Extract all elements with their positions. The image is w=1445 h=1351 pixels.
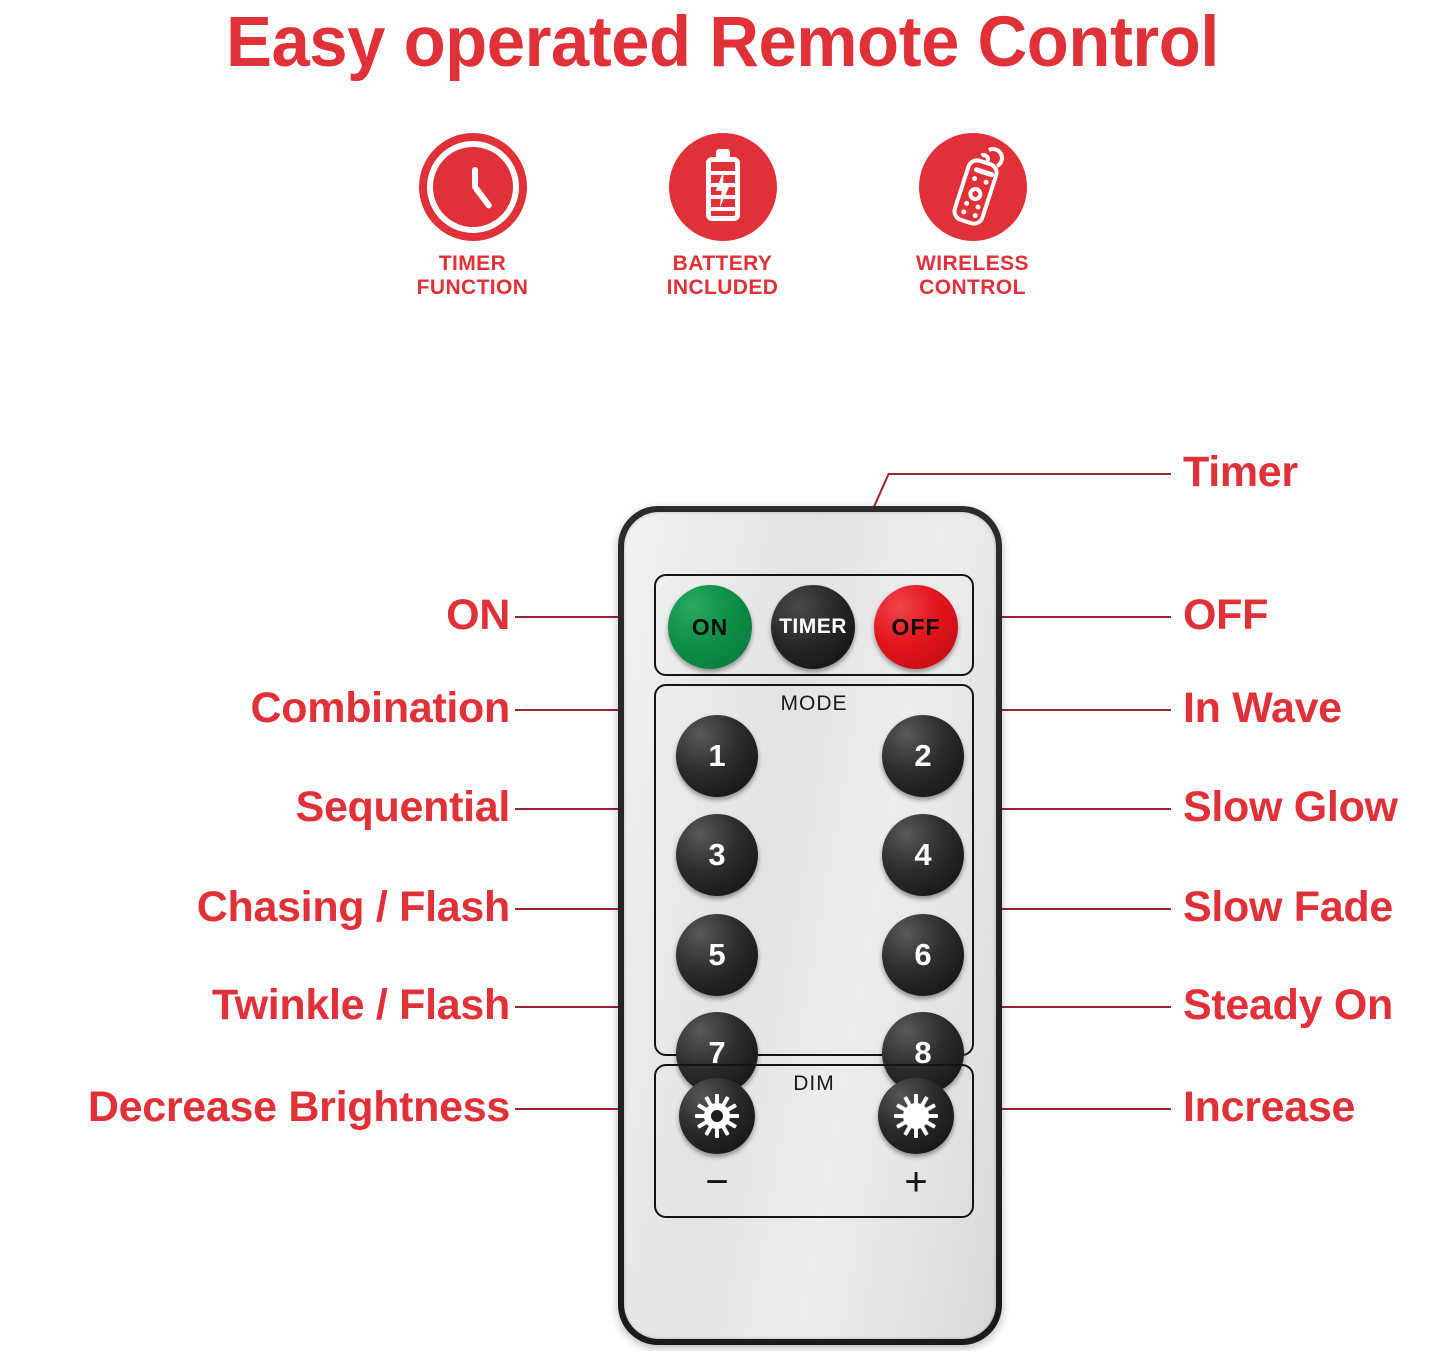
clock-icon: [419, 133, 527, 241]
badge-caption-line1: BATTERY: [667, 252, 779, 276]
callout-sequential: Sequential: [15, 786, 510, 829]
callout-chasing-flash: Chasing / Flash: [15, 886, 510, 929]
callout-off: OFF: [1183, 594, 1268, 637]
sun-solid-icon: [894, 1094, 938, 1138]
timer-button[interactable]: TIMER: [771, 585, 855, 669]
badge-caption-line1: TIMER: [417, 252, 529, 276]
badge-caption: TIMER FUNCTION: [417, 252, 529, 301]
badge-caption-line2: INCLUDED: [667, 276, 779, 300]
badge-battery-included: BATTERY INCLUDED: [598, 133, 848, 301]
callout-steady-on: Steady On: [1183, 984, 1393, 1027]
dim-minus-sign: −: [687, 1162, 747, 1202]
callout-slow-fade: Slow Fade: [1183, 886, 1393, 929]
badge-caption-line2: CONTROL: [916, 276, 1029, 300]
callout-twinkle-flash: Twinkle / Flash: [15, 984, 510, 1027]
page-title: Easy operated Remote Control: [22, 2, 1424, 83]
mode-button-3[interactable]: 3: [676, 814, 758, 896]
mode-panel: MODE 1 2 3 4 5 6 7 8: [654, 684, 974, 1056]
power-panel: ON TIMER OFF: [654, 574, 974, 676]
remote-control: ON TIMER OFF MODE 1 2 3 4 5 6 7 8 DIM: [618, 506, 1002, 1345]
battery-icon: [669, 133, 777, 241]
badge-timer-function: TIMER FUNCTION: [348, 133, 598, 301]
mode-button-5[interactable]: 5: [676, 914, 758, 996]
callout-in-wave: In Wave: [1183, 687, 1342, 730]
callout-increase: Increase: [1183, 1086, 1355, 1129]
badge-caption-line1: WIRELESS: [916, 252, 1029, 276]
remote-face: ON TIMER OFF MODE 1 2 3 4 5 6 7 8 DIM: [624, 512, 996, 1339]
badge-caption: WIRELESS CONTROL: [916, 252, 1029, 301]
mode-button-2[interactable]: 2: [882, 715, 964, 797]
badge-wireless-control: WIRELESS CONTROL: [848, 133, 1098, 301]
mode-button-1[interactable]: 1: [676, 715, 758, 797]
badge-caption-line2: FUNCTION: [417, 276, 529, 300]
leader-line-timer: [888, 473, 1171, 475]
callout-timer: Timer: [1183, 451, 1298, 494]
off-button[interactable]: OFF: [874, 585, 958, 669]
callout-combination: Combination: [15, 687, 510, 730]
dim-decrease-button[interactable]: [679, 1078, 755, 1154]
mode-button-6[interactable]: 6: [882, 914, 964, 996]
remote-signal-icon: [919, 133, 1027, 241]
on-button[interactable]: ON: [668, 585, 752, 669]
mode-button-4[interactable]: 4: [882, 814, 964, 896]
feature-badges: TIMER FUNCTION BATTERY INCLUDED: [0, 133, 1445, 301]
sun-hollow-icon: [695, 1094, 739, 1138]
callout-slow-glow: Slow Glow: [1183, 786, 1398, 829]
mode-section-label: MODE: [656, 692, 972, 716]
callout-decrease-brightness: Decrease Brightness: [5, 1086, 510, 1129]
dim-plus-sign: +: [886, 1162, 946, 1202]
badge-caption: BATTERY INCLUDED: [667, 252, 779, 301]
callout-on: ON: [15, 594, 510, 637]
dim-panel: DIM: [654, 1064, 974, 1218]
dim-increase-button[interactable]: [878, 1078, 954, 1154]
